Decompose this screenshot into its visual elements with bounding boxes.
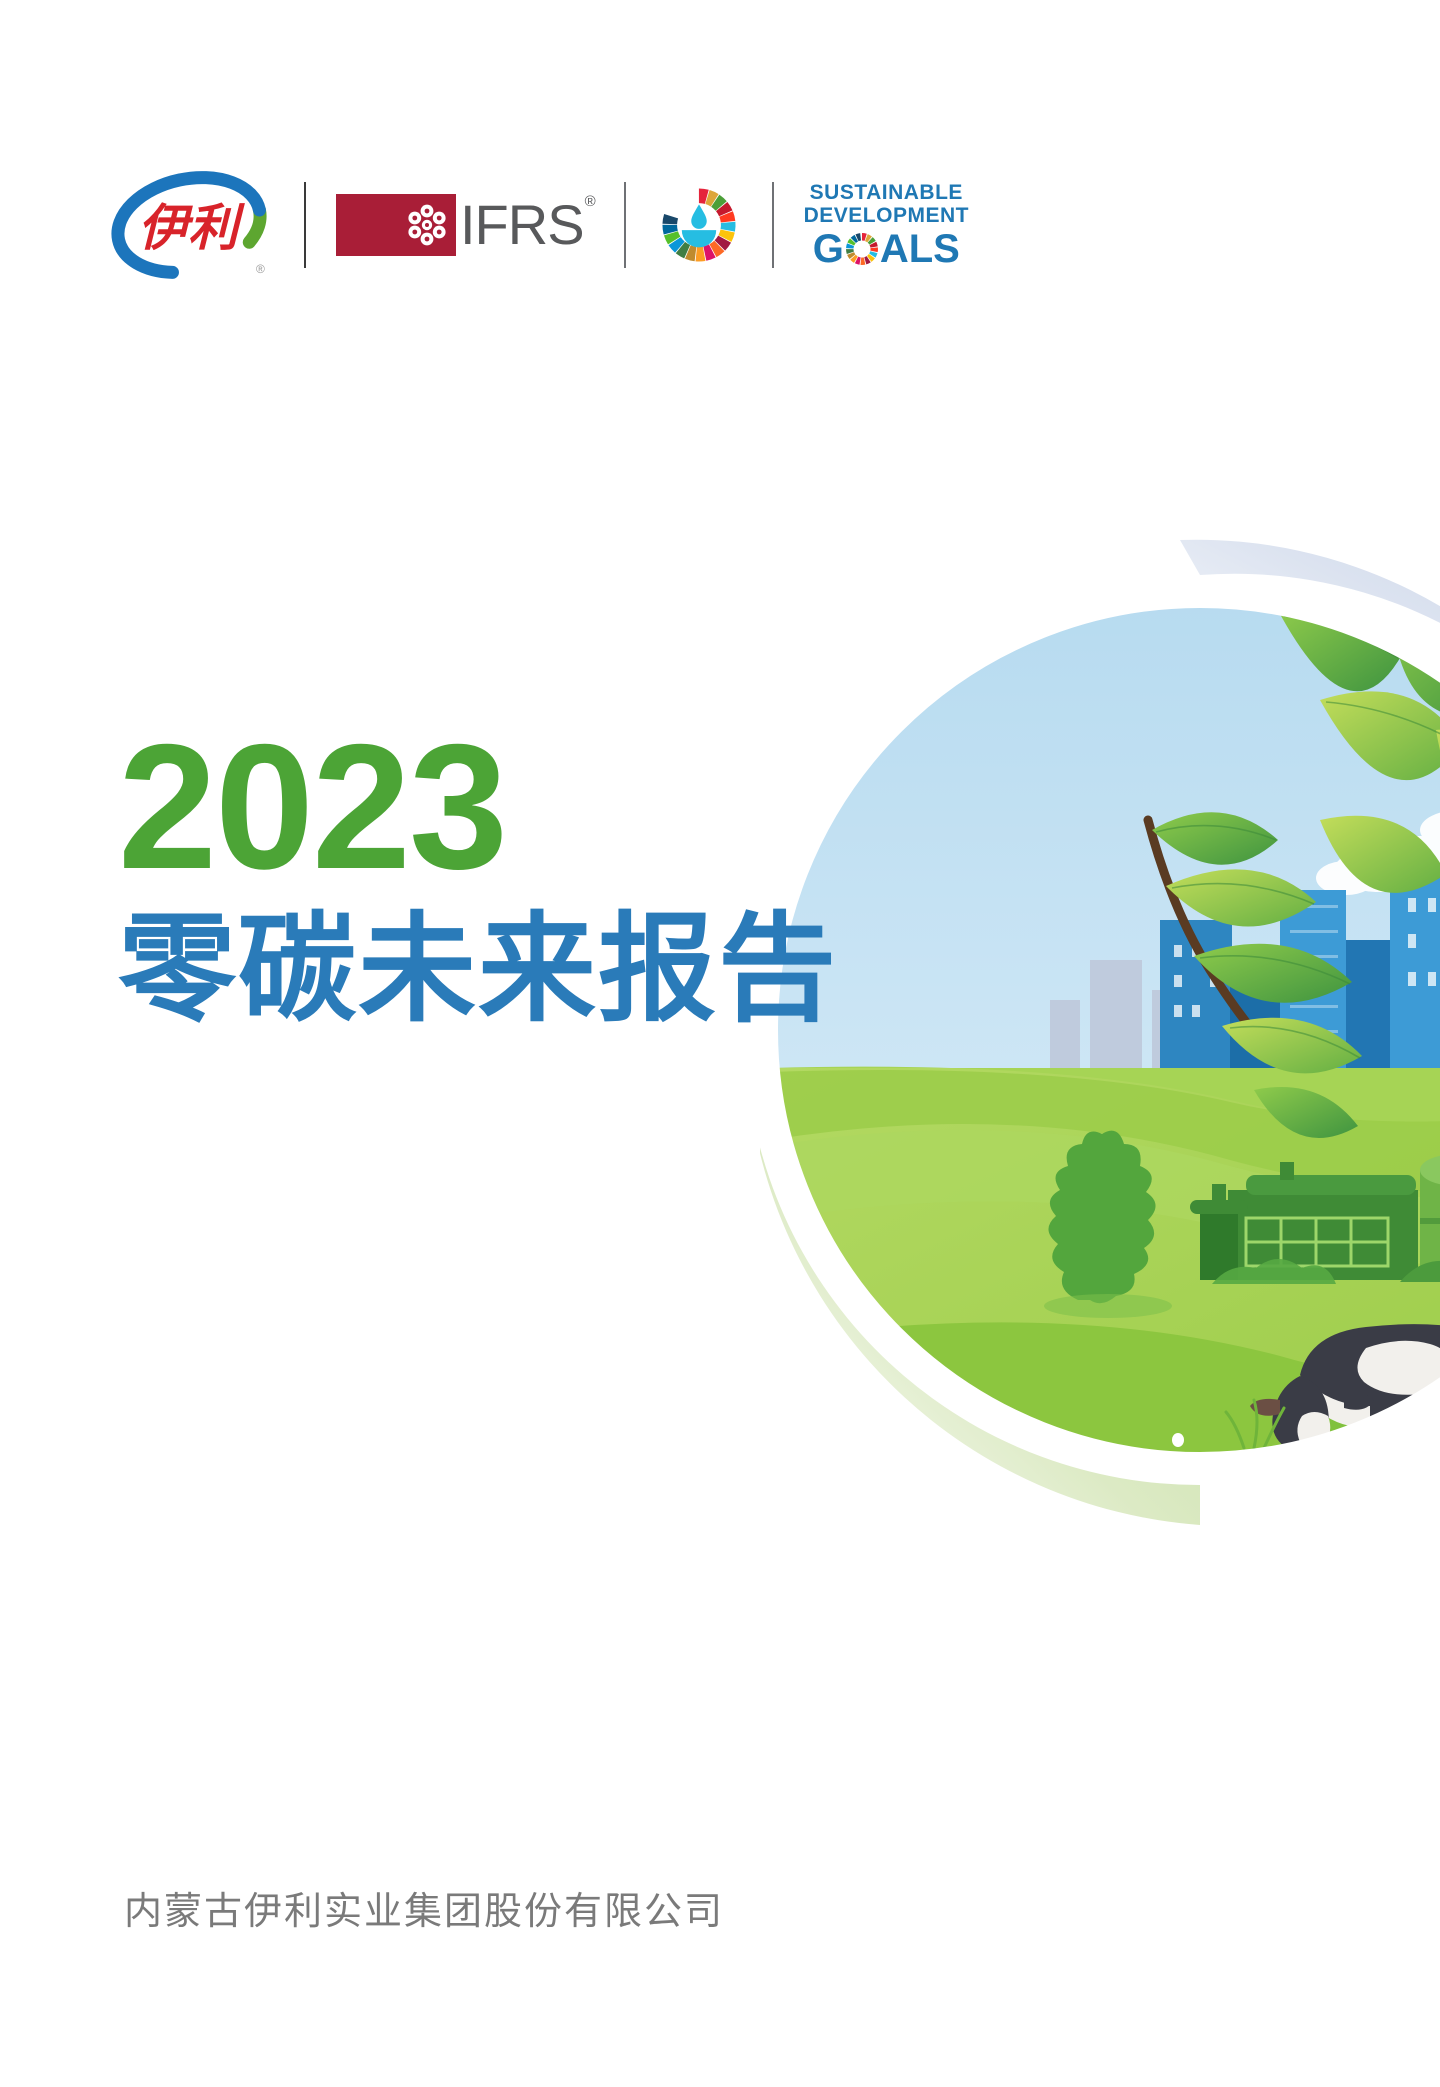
ifrs-wordmark: IFRS® [460,197,594,253]
company-name: 内蒙古伊利实业集团股份有限公司 [124,1880,724,1935]
ifrs-trademark: ® [585,193,595,210]
sdg-goals-als: ALS [880,229,960,269]
svg-text:®: ® [256,262,265,276]
svg-text:伊利: 伊利 [138,199,245,257]
ifrs-wordmark-text: IFRS [460,193,584,256]
sdg-wheel-logo [656,182,742,268]
cover-illustration [760,400,1440,1660]
sdg-goals-g: G [813,229,844,269]
logo-bar: 伊利 ® [104,160,969,290]
yili-logo: 伊利 ® [104,170,274,280]
sdg-line-development: DEVELOPMENT [804,205,969,226]
page-title-year: 2023 [118,725,838,889]
sdg-wheel-icon [656,182,742,268]
sdg-wheel-letter-o-icon [845,232,879,266]
ifrs-flower-icon [404,202,450,248]
divider-1 [304,182,306,268]
sdg-line-sustainable: SUSTAINABLE [810,182,963,203]
ifrs-red-block [336,194,456,256]
sdg-line-goals: G [813,229,960,269]
ifrs-logo: IFRS® [336,190,594,260]
divider-3 [772,182,774,268]
scene-circle [770,600,1440,1513]
cover-title-block: 2023 零碳未来报告 [118,725,838,1040]
divider-2 [624,182,626,268]
sdg-wordmark: SUSTAINABLE DEVELOPMENT G [804,182,969,269]
page-title-subtitle: 零碳未来报告 [118,901,838,1040]
report-cover-page: 伊利 ® [0,0,1440,2087]
